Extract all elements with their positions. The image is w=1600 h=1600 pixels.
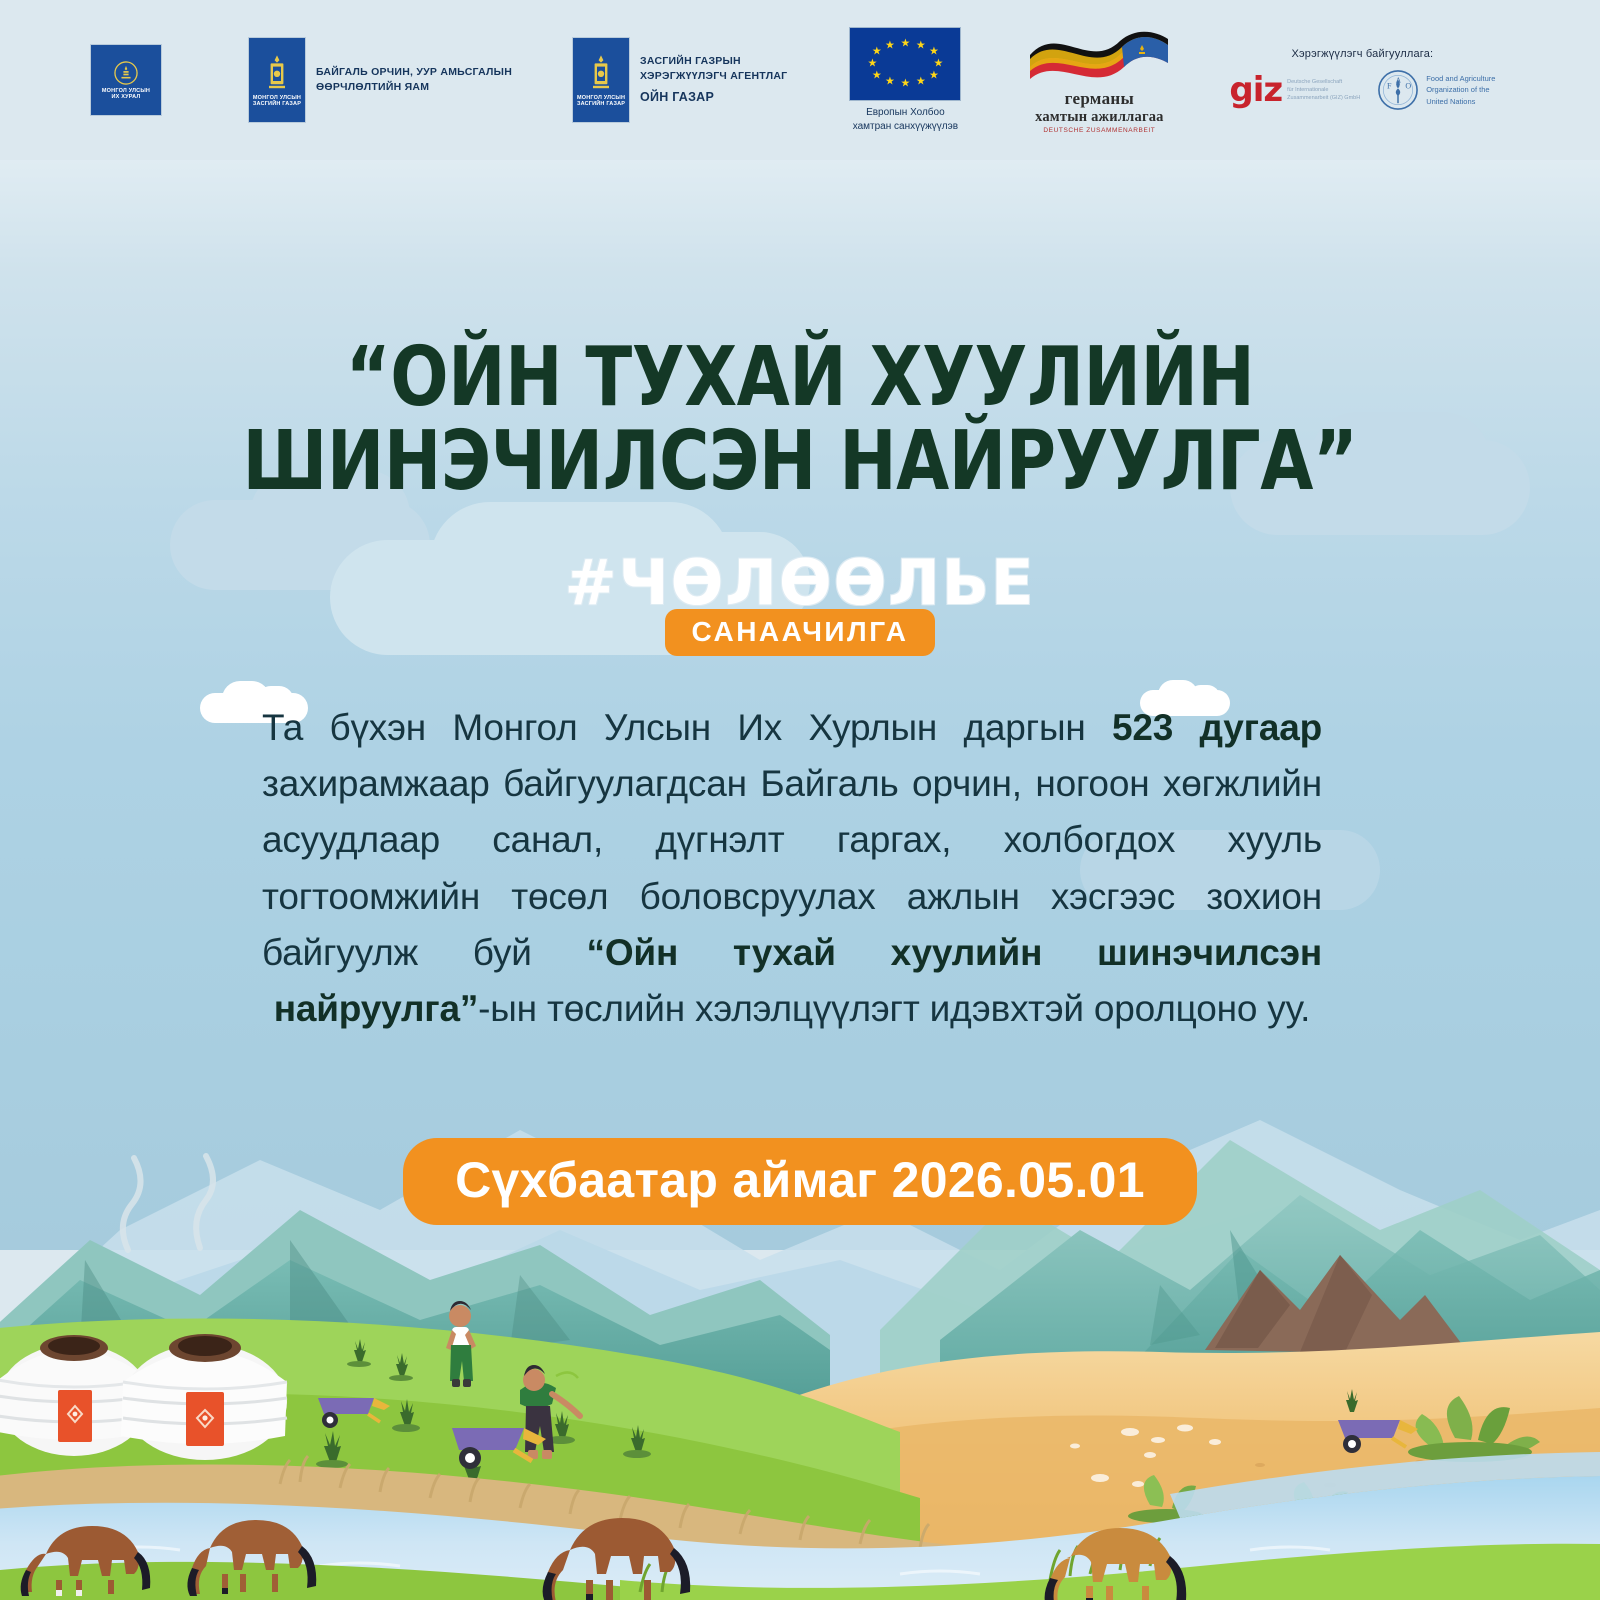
giz-full-name-label: Deutsche Gesellschaft für Internationale…: [1287, 78, 1360, 103]
paragraph-part-1: Та бүхэн Монгол Улсын Их Хурлын даргын: [262, 707, 1112, 748]
paragraph-bold-decree: 523 дугаар: [1112, 707, 1322, 748]
poster-title: “ОЙН ТУХАЙ ХУУЛИЙН ШИНЭЧИЛСЭН НАЙРУУЛГА”: [0, 336, 1600, 503]
svg-text:A: A: [1396, 76, 1402, 85]
german-coop-line1: германы: [1035, 89, 1164, 109]
title-line-2: ШИНЭЧИЛСЭН НАЙРУУЛГА”: [56, 420, 1544, 504]
agency-name-label: ЗАСГИЙН ГАЗРЫН ХЭРЭГЖҮҮЛЭГЧ АГЕНТЛАГ ОЙН…: [640, 39, 787, 121]
eu-funding-label: Европын Холбоо хамтран санхүүжүүлэв: [853, 106, 958, 133]
fao-logo-icon: F A O: [1376, 68, 1420, 112]
giz-logo-icon: giz: [1229, 76, 1282, 105]
implementers-title: Хэрэгжүүлэгч байгууллага:: [1291, 48, 1433, 60]
logo-european-union: ★★ ★★ ★★ ★★ ★★ ★★ Европын Холбоо хамтран…: [849, 27, 961, 133]
fao-full-name-label: Food and Agriculture Organization of the…: [1426, 73, 1495, 108]
logo-german-cooperation: германы хамтын ажиллагаа DEUTSCHE ZUSAMM…: [1019, 25, 1179, 135]
mongolia-soyombo-emblem-icon: МОНГОЛ УЛСЫН ЗАСГИЙН ГАЗАР: [248, 37, 306, 123]
campaign-badge-wrap: САНААЧИЛГА: [0, 609, 1600, 656]
ministry-name-label: БАЙГАЛЬ ОРЧИН, УУР АМЬСГАЛЫН ӨӨРЧЛӨЛТИЙН…: [316, 65, 512, 95]
agency-name-main: ОЙН ГАЗАР: [640, 88, 787, 106]
german-coop-line3: DEUTSCHE ZUSAMMENARBEIT: [1035, 127, 1164, 134]
poster-canvas: МОНГОЛ УЛСЫН ИХ ХУРАЛ МОНГОЛ УЛСЫН ЗАСГИ…: [0, 0, 1600, 1600]
event-location-date-wrap: Сүхбаатар аймаг 2026.05.01: [0, 1138, 1600, 1225]
emblem-caption: МОНГОЛ УЛСЫН ИХ ХУРАЛ: [100, 88, 152, 101]
emblem-caption: МОНГОЛ УЛСЫН ЗАСГИЙН ГАЗАР: [251, 95, 303, 108]
implementing-organizations: Хэрэгжүүлэгч байгууллага: giz Deutsche G…: [1229, 48, 1495, 112]
svg-text:O: O: [1406, 82, 1412, 91]
mongolia-soyombo-emblem-icon: МОНГОЛ УЛСЫН ЗАСГИЙН ГАЗАР: [572, 37, 630, 123]
logo-parliament: МОНГОЛ УЛСЫН ИХ ХУРАЛ: [90, 44, 162, 116]
agency-name-line: ЗАСГИЙН ГАЗРЫН ХЭРЭГЖҮҮЛЭГЧ АГЕНТЛАГ: [640, 55, 787, 82]
initiative-badge: САНААЧИЛГА: [665, 609, 934, 656]
announcement-paragraph: Та бүхэн Монгол Улсын Их Хурлын даргын 5…: [262, 700, 1322, 1037]
logo-giz: giz Deutsche Gesellschaft für Internatio…: [1229, 76, 1360, 105]
logo-forest-agency: МОНГОЛ УЛСЫН ЗАСГИЙН ГАЗАР ЗАСГИЙН ГАЗРЫ…: [572, 37, 787, 123]
campaign-hashtag: #ЧӨЛӨӨЛЬЕ: [0, 552, 1600, 614]
emblem-caption: МОНГОЛ УЛСЫН ЗАСГИЙН ГАЗАР: [575, 95, 627, 108]
german-cooperation-label: германы хамтын ажиллагаа DEUTSCHE ZUSAMM…: [1035, 89, 1164, 135]
paragraph-part-3: -ын төслийн хэлэлцүүлэгт идэвхтэй оролцо…: [478, 988, 1310, 1029]
mongolia-soyombo-emblem-icon: МОНГОЛ УЛСЫН ИХ ХУРАЛ: [90, 44, 162, 116]
logo-fao: F A O Food and Agriculture Organization …: [1376, 68, 1495, 112]
event-location-date: Сүхбаатар аймаг 2026.05.01: [403, 1138, 1197, 1225]
german-coop-line2: хамтын ажиллагаа: [1035, 109, 1164, 126]
partner-logo-bar: МОНГОЛ УЛСЫН ИХ ХУРАЛ МОНГОЛ УЛСЫН ЗАСГИ…: [0, 0, 1600, 160]
german-mongolian-cooperation-flag-icon: [1024, 25, 1174, 87]
european-union-flag-icon: ★★ ★★ ★★ ★★ ★★ ★★: [849, 27, 961, 101]
title-line-1: “ОЙН ТУХАЙ ХУУЛИЙН: [56, 336, 1544, 420]
svg-text:F: F: [1387, 82, 1392, 91]
logo-ministry-environment: МОНГОЛ УЛСЫН ЗАСГИЙН ГАЗАР БАЙГАЛЬ ОРЧИН…: [248, 37, 512, 123]
